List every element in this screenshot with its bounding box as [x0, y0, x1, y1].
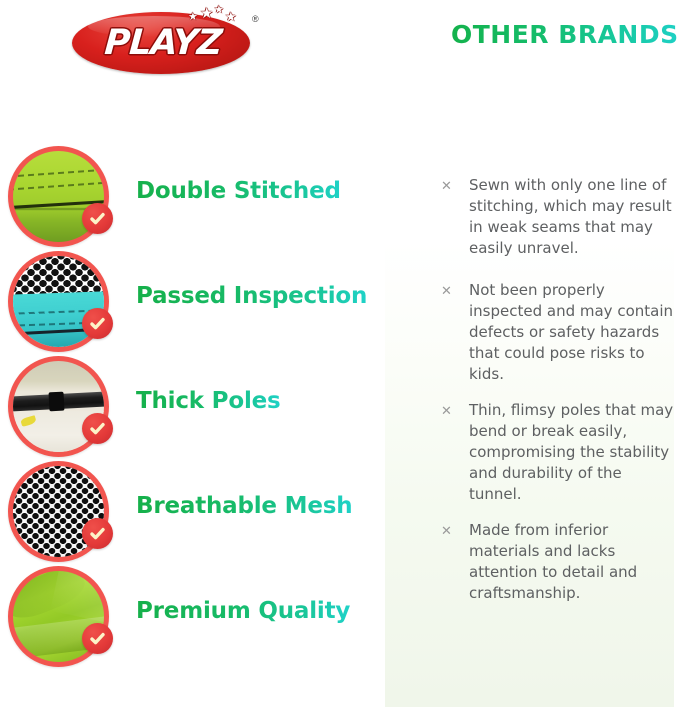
feature-row: Thick Poles — [8, 356, 378, 460]
cross-icon: ✕ — [441, 280, 469, 385]
cross-icon: ✕ — [441, 400, 469, 505]
feature-image-thick-poles — [8, 356, 109, 457]
check-badge-icon — [82, 203, 113, 234]
feature-image-premium-quality — [8, 566, 109, 667]
check-badge-icon — [82, 623, 113, 654]
logo-wordmark: PLAYZ — [82, 21, 243, 67]
feature-label: Breathable Mesh — [136, 493, 352, 519]
feature-row: Breathable Mesh — [8, 461, 378, 565]
other-brands-list-item: ✕ Not been properly inspected and may co… — [441, 280, 679, 385]
feature-label: Passed Inspection — [136, 283, 367, 309]
cross-icon: ✕ — [441, 520, 469, 604]
logo-star-icon: ★ — [188, 12, 198, 23]
feature-label: Double Stitched — [136, 178, 341, 204]
check-badge-icon — [82, 413, 113, 444]
feature-image-breathable-mesh — [8, 461, 109, 562]
other-brands-item-text: Thin, flimsy poles that may bend or brea… — [469, 400, 679, 505]
logo-star-icon: ★ — [225, 10, 237, 23]
logo-star-icon: ★ — [200, 6, 213, 21]
other-brands-item-text: Not been properly inspected and may cont… — [469, 280, 679, 385]
feature-row: Premium Quality — [8, 566, 378, 670]
other-brands-title: OTHER BRANDS — [451, 20, 677, 49]
other-brands-list-item: ✕ Thin, flimsy poles that may bend or br… — [441, 400, 679, 505]
feature-row: Passed Inspection — [8, 251, 378, 355]
feature-label: Premium Quality — [136, 598, 350, 624]
other-brands-list-item: ✕ Sewn with only one line of stitching, … — [441, 175, 679, 259]
other-brands-item-text: Sewn with only one line of stitching, wh… — [469, 175, 679, 259]
logo-star-icon: ★ — [214, 5, 224, 16]
other-brands-item-text: Made from inferior materials and lacks a… — [469, 520, 679, 604]
other-brands-list-item: ✕ Made from inferior materials and lacks… — [441, 520, 679, 604]
playz-logo: PLAYZ ★ ★ ★ ★ ® — [62, 4, 267, 82]
cross-icon: ✕ — [441, 175, 469, 259]
registered-trademark-symbol: ® — [252, 14, 259, 24]
feature-image-passed-inspection — [8, 251, 109, 352]
feature-image-double-stitched — [8, 146, 109, 247]
check-badge-icon — [82, 518, 113, 549]
feature-label: Thick Poles — [136, 388, 281, 414]
check-badge-icon — [82, 308, 113, 339]
feature-row: Double Stitched — [8, 146, 378, 250]
